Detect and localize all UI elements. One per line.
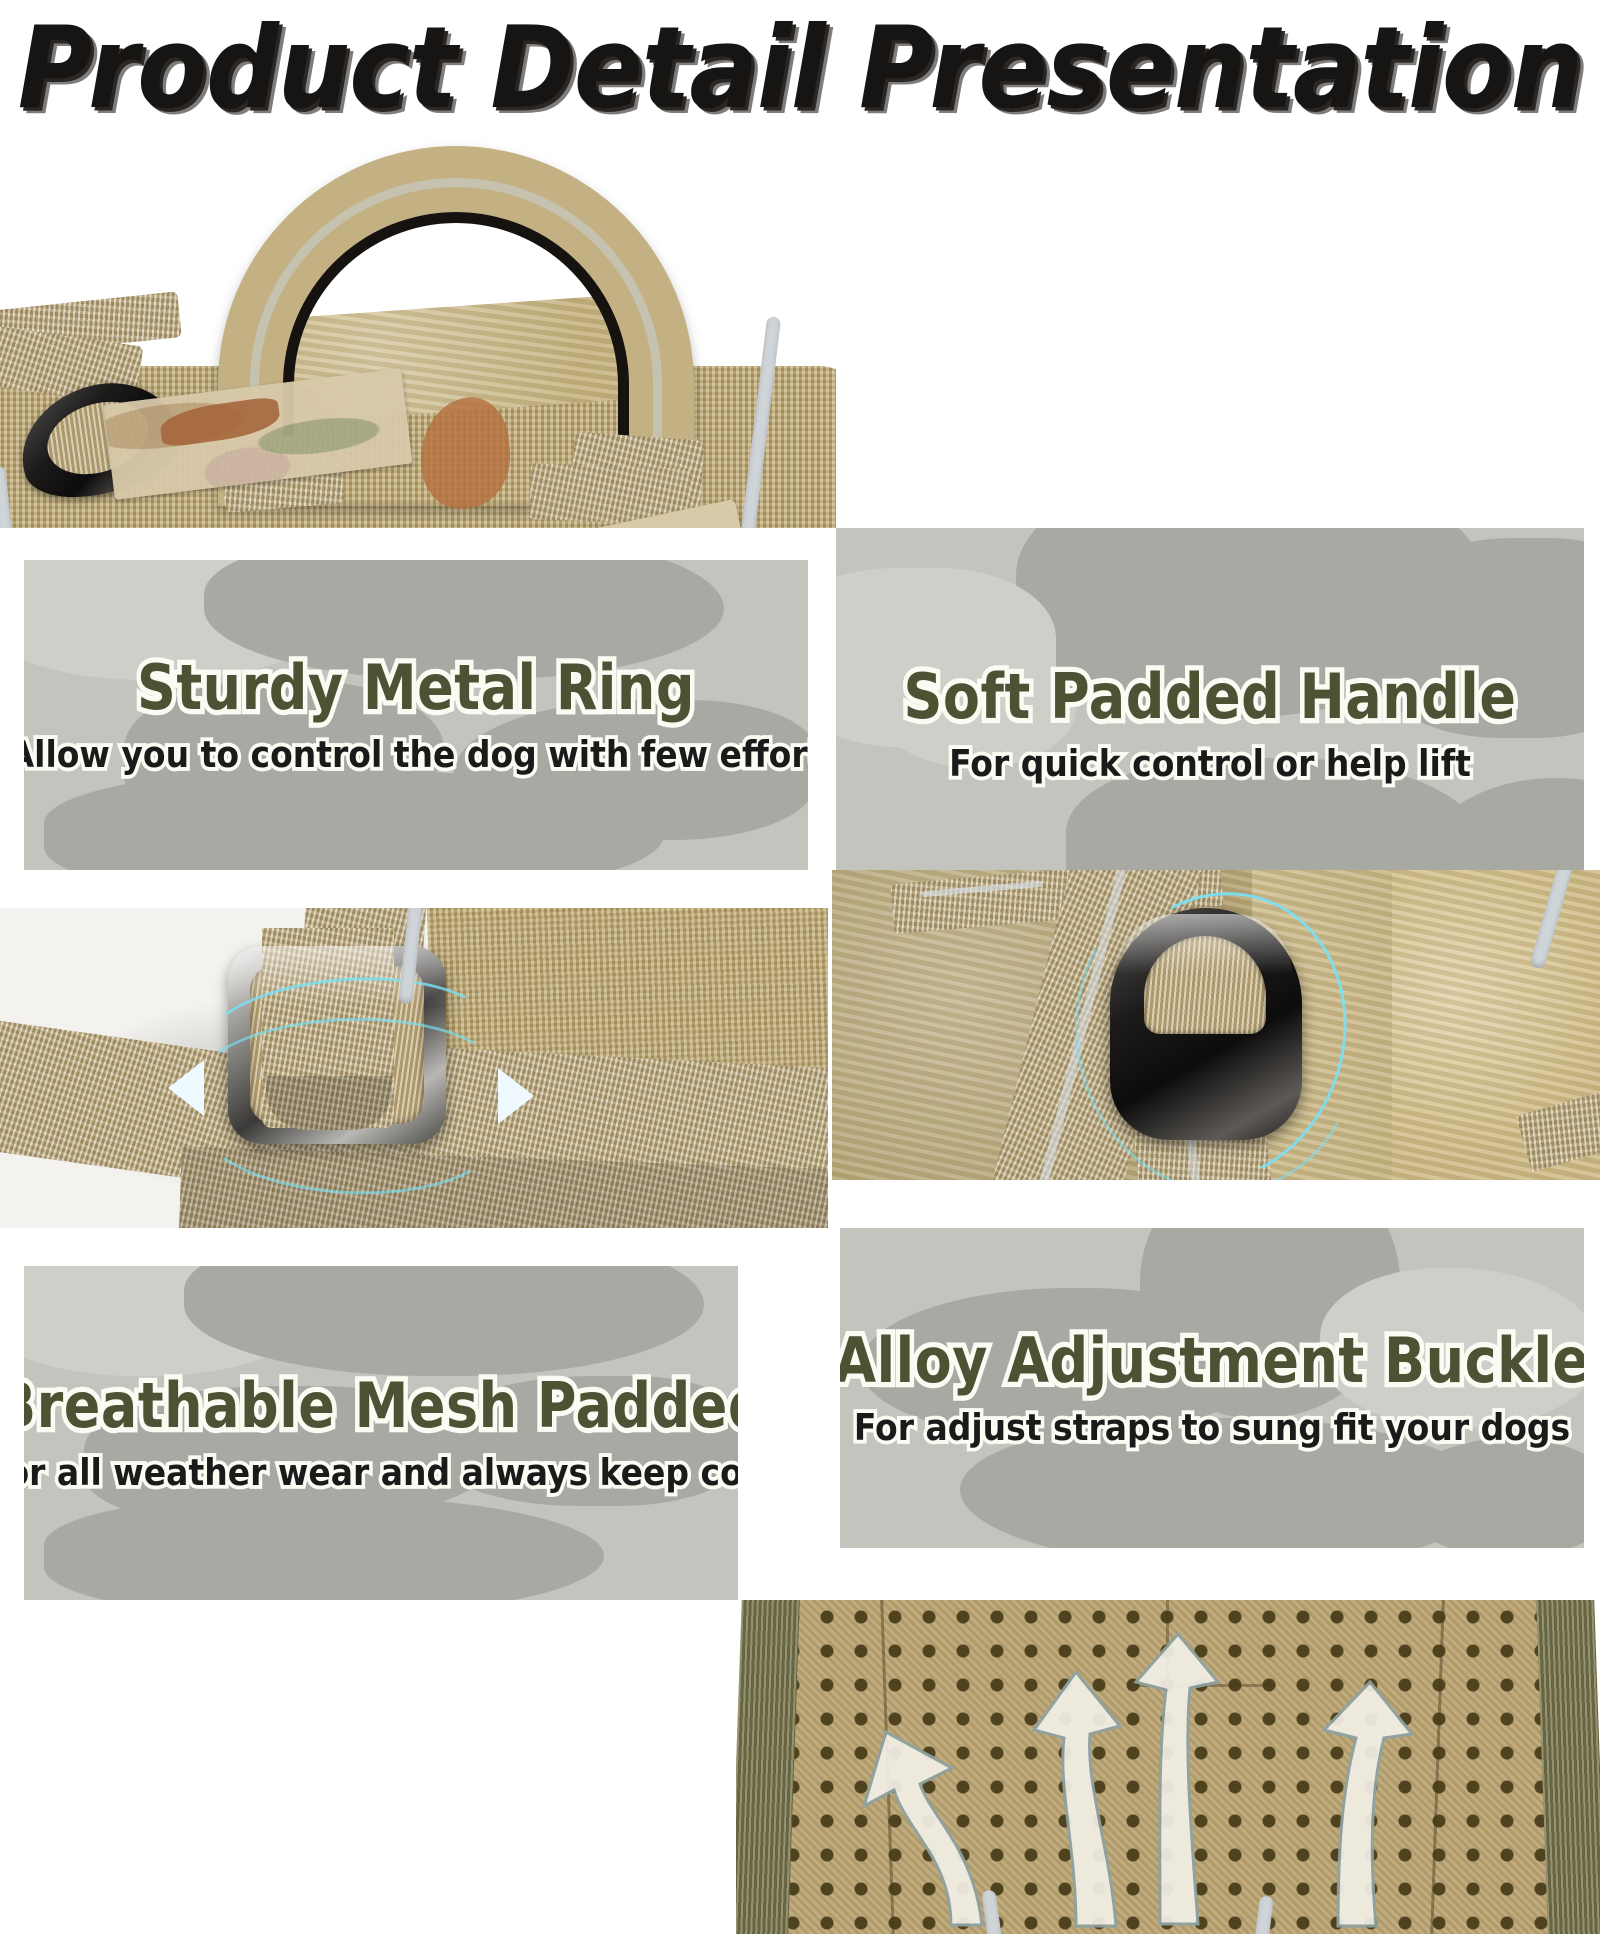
text-panel-alloy-adjustment-buckle: Alloy Adjustment Buckle For adjust strap… <box>840 1228 1584 1548</box>
text-panel-soft-padded-handle: Soft Padded Handle For quick control or … <box>836 528 1584 920</box>
feature-row-alloy-adjustment-buckle: Alloy Adjustment Buckle For adjust strap… <box>0 908 1600 1228</box>
text-panel-sturdy-metal-ring: Sturdy Metal Ring Allow you to control t… <box>24 560 808 870</box>
feature-subline: Allow you to control the dog with few ef… <box>24 733 808 776</box>
feature-headline: Breathable Mesh Padded <box>24 1369 738 1442</box>
text-panel-breathable-mesh-padded: Breathable Mesh Padded For all weather w… <box>24 1266 738 1600</box>
page-title-bar: Product Detail Presentation <box>0 0 1600 136</box>
feature-subline: For quick control or help lift <box>949 742 1471 785</box>
arrow-right-icon <box>498 1068 534 1124</box>
feature-headline: Alloy Adjustment Buckle <box>840 1324 1584 1397</box>
feature-row-soft-padded-handle: ACK GUNS Soft Padded Handle For quick co… <box>0 136 1600 528</box>
feature-headline: Sturdy Metal Ring <box>137 651 695 724</box>
page-title: Product Detail Presentation <box>18 2 1582 134</box>
arrow-left-icon <box>168 1060 204 1116</box>
feature-subline: For all weather wear and always keep coo… <box>24 1451 738 1494</box>
feature-headline: Soft Padded Handle <box>904 660 1517 733</box>
airflow-arrow-icon <box>1284 1680 1434 1930</box>
photo-alloy-adjustment-buckle <box>0 908 828 1228</box>
photo-soft-padded-handle: ACK GUNS <box>0 136 836 528</box>
photo-breathable-mesh-padded <box>736 1600 1600 1934</box>
airflow-arrow-icon <box>1114 1632 1244 1927</box>
feature-subline: For adjust straps to sung fit your dogs <box>854 1406 1570 1449</box>
